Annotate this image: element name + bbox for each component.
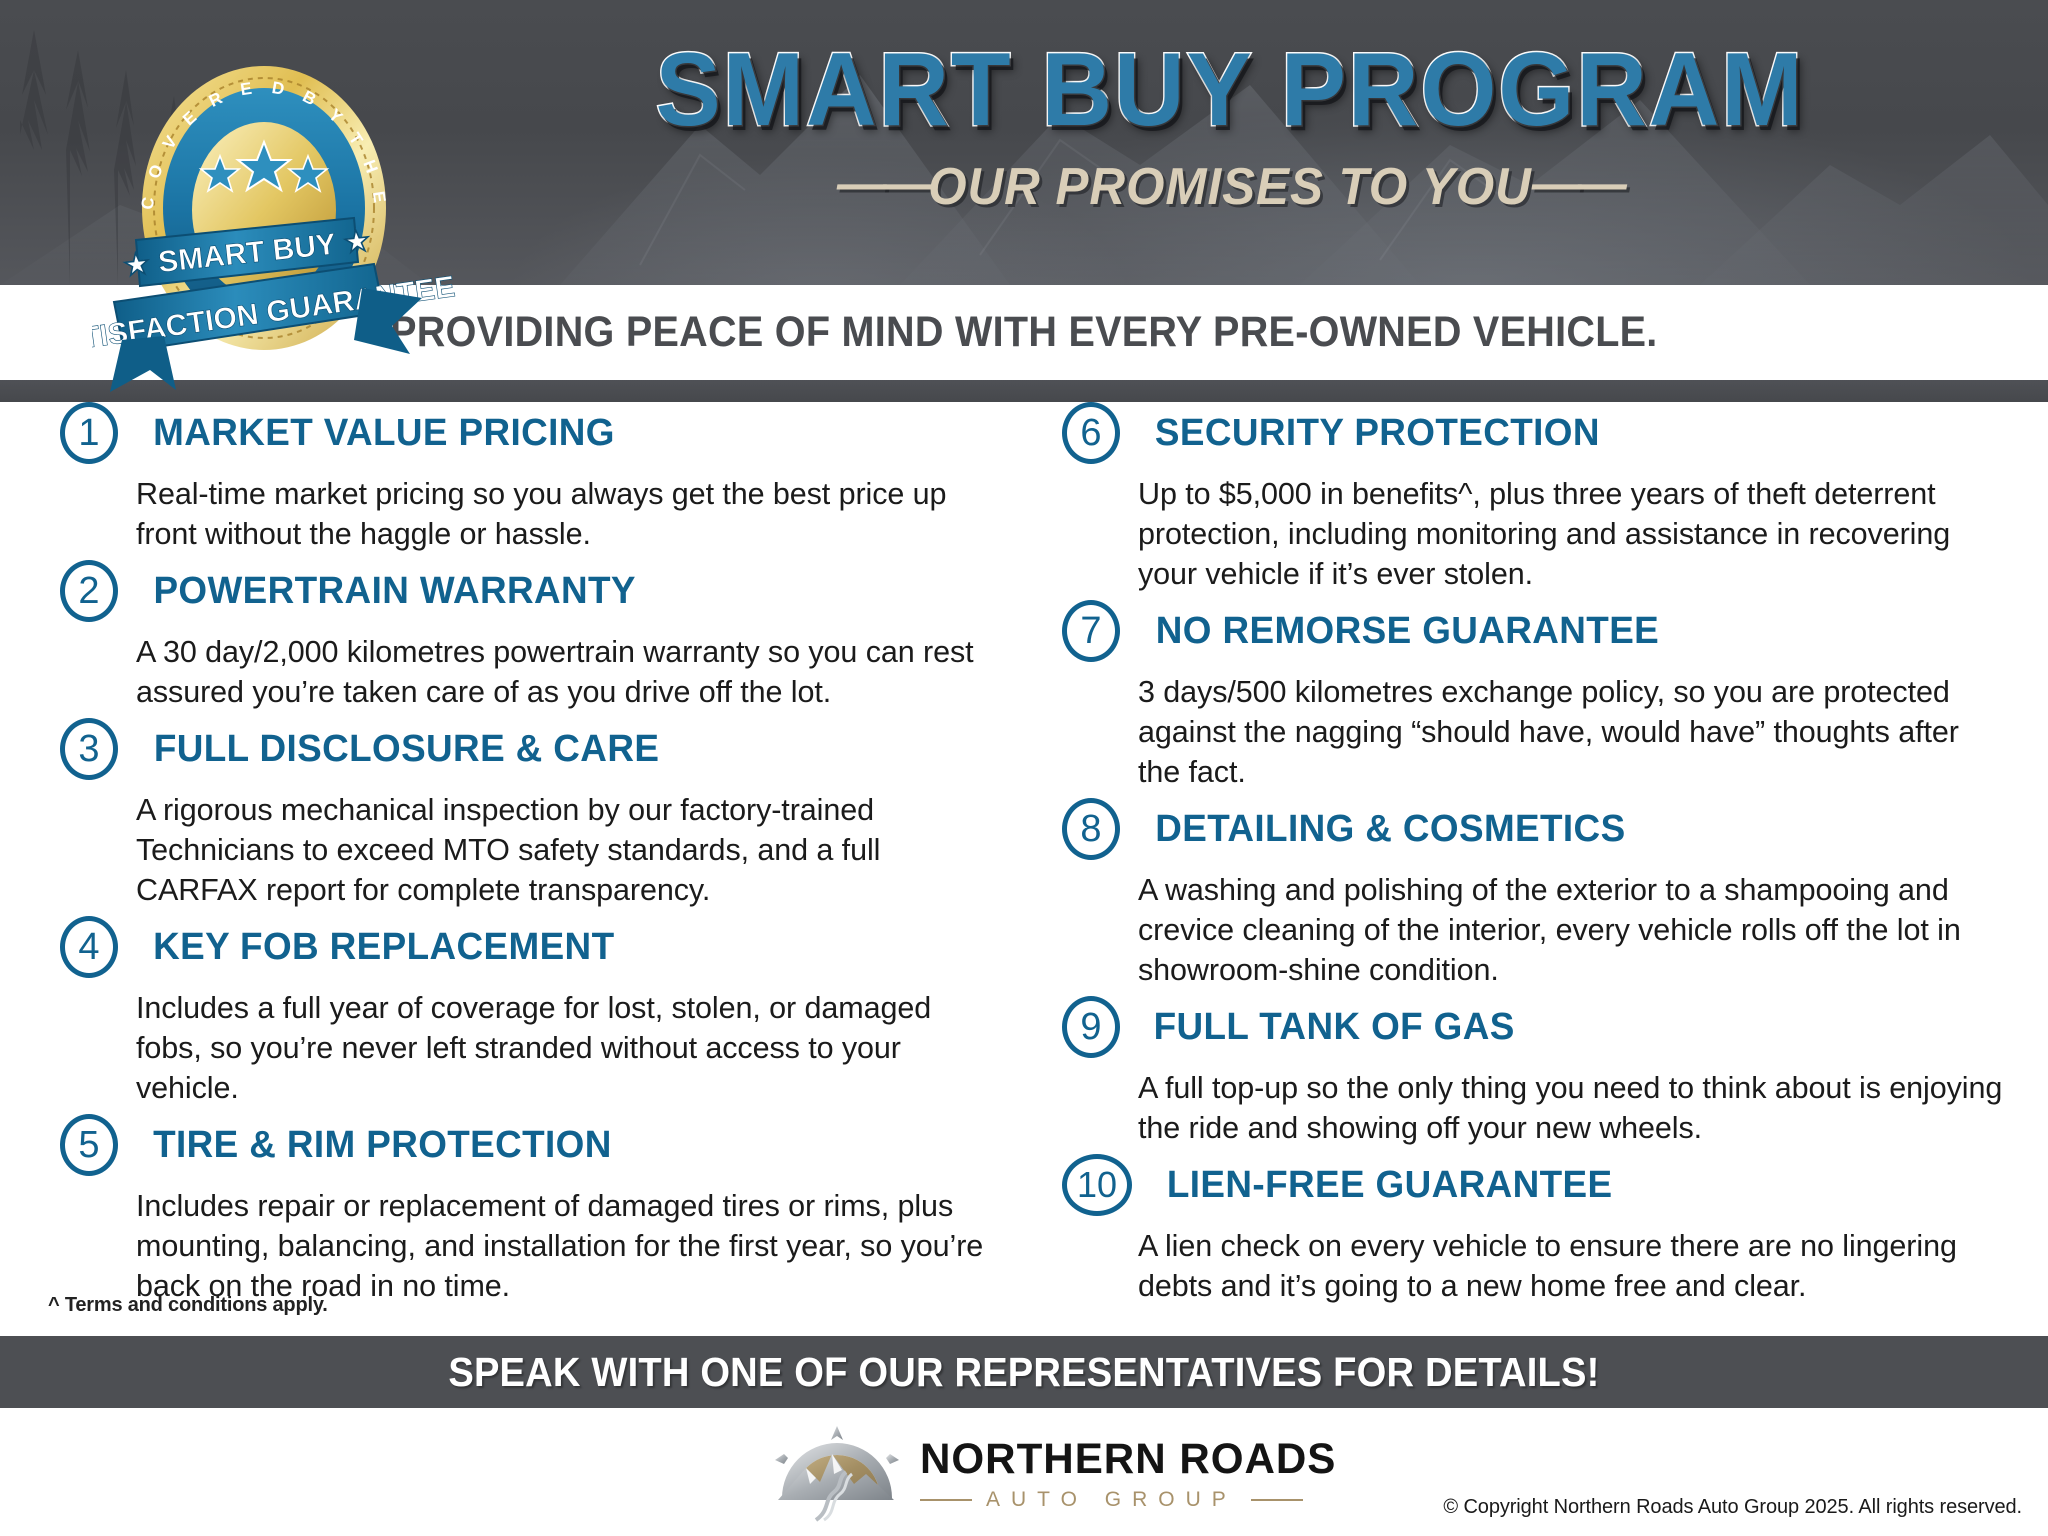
promise-header-1: 1 MARKET VALUE PRICING <box>60 402 1020 464</box>
promise-number-3: 3 <box>60 718 118 780</box>
promise-title-2: POWERTRAIN WARRANTY <box>153 570 635 613</box>
promise-item-10: 10 LIEN-FREE GUARANTEE A lien check on e… <box>1062 1154 2022 1306</box>
promise-number-2: 2 <box>60 560 118 622</box>
logo-company-name: NORTHERN ROADS <box>920 1436 1336 1482</box>
promise-item-5: 5 TIRE & RIM PROTECTION Includes repair … <box>60 1114 1020 1306</box>
cta-banner: SPEAK WITH ONE OF OUR REPRESENTATIVES FO… <box>0 1336 2048 1408</box>
promise-body-1: Real-time market pricing so you always g… <box>136 474 1001 554</box>
promise-body-7: 3 days/500 kilometres exchange policy, s… <box>1138 672 2003 792</box>
promise-body-9: A full top-up so the only thing you need… <box>1138 1068 2003 1148</box>
promise-number-5: 5 <box>60 1114 118 1176</box>
page-subtitle: ——OUR PROMISES TO YOU—— <box>537 156 1924 215</box>
promise-number-6: 6 <box>1062 402 1120 464</box>
promise-header-6: 6 SECURITY PROTECTION <box>1062 402 2022 464</box>
promise-header-9: 9 FULL TANK OF GAS <box>1062 996 2022 1058</box>
promise-item-8: 8 DETAILING & COSMETICS A washing and po… <box>1062 798 2022 990</box>
promise-title-10: LIEN-FREE GUARANTEE <box>1167 1164 1613 1207</box>
terms-and-conditions-note: ^ Terms and conditions apply. <box>48 1294 328 1317</box>
promise-body-4: Includes a full year of coverage for los… <box>136 988 1001 1108</box>
promises-column-right: 6 SECURITY PROTECTION Up to $5,000 in be… <box>1062 402 2022 1312</box>
promise-number-1: 1 <box>60 402 118 464</box>
smart-buy-program-poster: SMART BUY PROGRAM ——OUR PROMISES TO YOU—… <box>0 0 2048 1536</box>
footer: NORTHERN ROADS AUTO GROUP © Copyright No… <box>0 1408 2048 1536</box>
promise-header-7: 7 NO REMORSE GUARANTEE <box>1062 600 2022 662</box>
promise-item-9: 9 FULL TANK OF GAS A full top-up so the … <box>1062 996 2022 1148</box>
promise-item-6: 6 SECURITY PROTECTION Up to $5,000 in be… <box>1062 402 2022 594</box>
promise-title-3: FULL DISCLOSURE & CARE <box>154 728 659 771</box>
subtitle-dash-left: —— <box>837 156 928 212</box>
satisfaction-guarantee-seal-badge: C O V E R E D B Y T H E ★ SMART BUY ★ SA… <box>92 40 512 400</box>
promise-number-10: 10 <box>1062 1154 1132 1216</box>
promise-body-3: A rigorous mechanical inspection by our … <box>136 790 1001 910</box>
promise-number-9: 9 <box>1062 996 1120 1058</box>
logo-rule-left <box>920 1499 972 1501</box>
logo-wordmark: NORTHERN ROADS AUTO GROUP <box>920 1436 1345 1512</box>
promise-header-3: 3 FULL DISCLOSURE & CARE <box>60 718 1020 780</box>
header-title-block: SMART BUY PROGRAM ——OUR PROMISES TO YOU—… <box>500 38 1960 215</box>
promise-item-1: 1 MARKET VALUE PRICING Real-time market … <box>60 402 1020 554</box>
company-logo: NORTHERN ROADS AUTO GROUP <box>772 1422 1312 1526</box>
subtitle-dash-right: —— <box>1532 156 1623 212</box>
promise-header-10: 10 LIEN-FREE GUARANTEE <box>1062 1154 2022 1216</box>
promise-header-8: 8 DETAILING & COSMETICS <box>1062 798 2022 860</box>
promise-header-4: 4 KEY FOB REPLACEMENT <box>60 916 1020 978</box>
promise-number-8: 8 <box>1062 798 1120 860</box>
promises-content: 1 MARKET VALUE PRICING Real-time market … <box>0 402 2048 1322</box>
promise-title-5: TIRE & RIM PROTECTION <box>153 1124 612 1167</box>
promise-number-4: 4 <box>60 916 118 978</box>
logo-rule-right <box>1251 1499 1303 1501</box>
promise-title-6: SECURITY PROTECTION <box>1155 412 1600 455</box>
promise-header-5: 5 TIRE & RIM PROTECTION <box>60 1114 1020 1176</box>
promise-body-10: A lien check on every vehicle to ensure … <box>1138 1226 2003 1306</box>
promise-body-6: Up to $5,000 in benefits^, plus three ye… <box>1138 474 2003 594</box>
subtitle-text: OUR PROMISES TO YOU <box>928 158 1532 216</box>
promises-column-left: 1 MARKET VALUE PRICING Real-time market … <box>60 402 1020 1312</box>
page-title: SMART BUY PROGRAM <box>544 38 1916 142</box>
promise-item-2: 2 POWERTRAIN WARRANTY A 30 day/2,000 kil… <box>60 560 1020 712</box>
promise-item-3: 3 FULL DISCLOSURE & CARE A rigorous mech… <box>60 718 1020 910</box>
promise-title-9: FULL TANK OF GAS <box>1154 1006 1515 1049</box>
promise-body-5: Includes repair or replacement of damage… <box>136 1186 1001 1306</box>
logo-tagline-row: AUTO GROUP <box>920 1488 1345 1512</box>
promise-title-7: NO REMORSE GUARANTEE <box>1156 610 1659 653</box>
promise-item-7: 7 NO REMORSE GUARANTEE 3 days/500 kilome… <box>1062 600 2022 792</box>
logo-company-subtitle: AUTO GROUP <box>986 1488 1237 1512</box>
promise-body-8: A washing and polishing of the exterior … <box>1138 870 2003 990</box>
tagline-text: PROVIDING PEACE OF MIND WITH EVERY PRE-O… <box>390 308 1657 357</box>
promise-title-1: MARKET VALUE PRICING <box>153 412 615 455</box>
promise-body-2: A 30 day/2,000 kilometres powertrain war… <box>136 632 1001 712</box>
promise-title-8: DETAILING & COSMETICS <box>1155 808 1625 851</box>
promise-title-4: KEY FOB REPLACEMENT <box>153 926 614 969</box>
promise-number-7: 7 <box>1062 600 1120 662</box>
promise-item-4: 4 KEY FOB REPLACEMENT Includes a full ye… <box>60 916 1020 1108</box>
promise-header-2: 2 POWERTRAIN WARRANTY <box>60 560 1020 622</box>
cta-text: SPEAK WITH ONE OF OUR REPRESENTATIVES FO… <box>448 1349 1599 1396</box>
copyright-text: © Copyright Northern Roads Auto Group 20… <box>1443 1496 2022 1519</box>
northern-roads-compass-mountain-icon <box>772 1424 902 1524</box>
